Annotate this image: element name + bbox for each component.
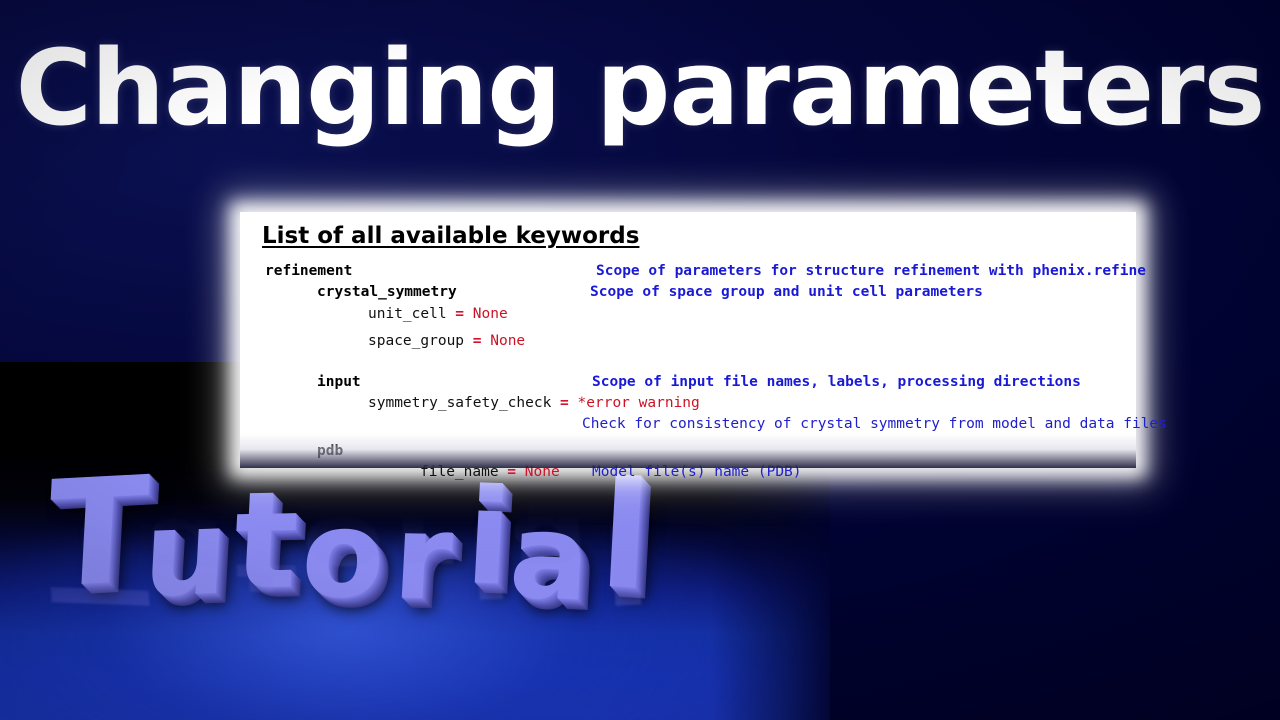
tutorial-reflection-letter-r: r	[391, 503, 455, 589]
keyword-entry: symmetry_safety_check = *error warning	[368, 396, 700, 411]
keyword-name: input	[317, 374, 361, 390]
keyword-entry: pdb	[317, 444, 343, 459]
tutorial-reflection-letter-i: i	[463, 511, 515, 607]
tutorial-word-reflection: T u t o r i a l	[48, 512, 748, 620]
tutorial-reflection-letter-o: o	[299, 503, 388, 589]
tutorial-reflection-letter-t: t	[230, 509, 301, 606]
keyword-description: Model file(s) name (PDB)	[592, 465, 802, 480]
keyword-name: space_group	[368, 333, 464, 349]
keyword-equals: =	[551, 395, 577, 411]
keyword-value: None	[473, 306, 508, 322]
keyword-value: None	[525, 464, 560, 480]
keyword-value: None	[490, 333, 525, 349]
panel-top-fade	[240, 212, 1136, 222]
slide-root: T u t o r i a l T u t o r i a l List of …	[0, 0, 1280, 720]
tutorial-reflection-letter-l: l	[596, 506, 654, 615]
keyword-list-panel: List of all available keywords refinemen…	[240, 212, 1136, 468]
keyword-description: Check for consistency of crystal symmetr…	[582, 417, 1167, 432]
keyword-name: unit_cell	[368, 306, 447, 322]
keyword-entry: refinement	[265, 264, 352, 279]
keyword-entry: file_name = None	[420, 465, 560, 480]
keyword-equals: =	[499, 464, 525, 480]
keyword-description: Scope of space group and unit cell param…	[590, 285, 983, 300]
tutorial-reflection-letter-u: u	[141, 505, 231, 592]
keyword-description: Scope of parameters for structure refine…	[596, 264, 1146, 279]
keyword-entry: unit_cell = None	[368, 307, 508, 322]
keyword-name: refinement	[265, 263, 352, 279]
keyword-name: crystal_symmetry	[317, 284, 457, 300]
keyword-entry: crystal_symmetry	[317, 285, 457, 300]
tutorial-reflection-letter-T: T	[44, 508, 151, 617]
keyword-name: file_name	[420, 464, 499, 480]
keyword-rows: refinementScope of parameters for struct…	[240, 264, 1136, 468]
tutorial-reflection-letter-a: a	[507, 502, 593, 590]
keyword-name: symmetry_safety_check	[368, 395, 551, 411]
keyword-equals: =	[447, 306, 473, 322]
keyword-name: pdb	[317, 443, 343, 459]
slide-title: Changing parameters	[0, 30, 1280, 146]
panel-heading: List of all available keywords	[262, 223, 639, 249]
keyword-equals: =	[464, 333, 490, 349]
keyword-description: Scope of input file names, labels, proce…	[592, 375, 1081, 390]
keyword-entry: space_group = None	[368, 334, 525, 349]
keyword-value: *error warning	[578, 395, 700, 411]
keyword-entry: input	[317, 375, 361, 390]
